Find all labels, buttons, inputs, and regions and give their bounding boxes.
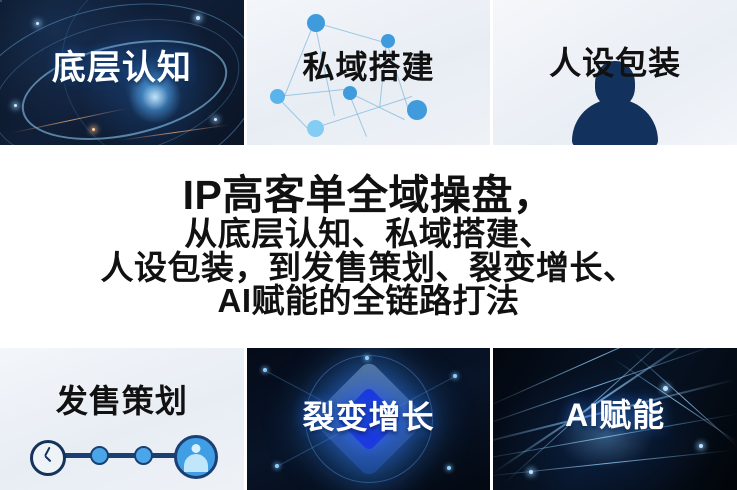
- headline-line-3: 人设包装，到发售策划、裂变增长、: [101, 251, 637, 285]
- panel-foundation-cognition[interactable]: 底层认知: [0, 0, 244, 145]
- silhouette-body: [572, 99, 658, 145]
- poster-canvas: 底层认知 私域搭建 人设: [0, 0, 737, 490]
- light-dot: [699, 444, 703, 448]
- panel-label-persona-packaging: 人设包装: [493, 38, 737, 84]
- network-dot: [365, 356, 369, 360]
- timeline-milestone-dot: [90, 446, 109, 465]
- light-dot: [529, 470, 533, 474]
- network-dot: [447, 466, 451, 470]
- avatar-body: [184, 454, 208, 472]
- panel-launch-planning[interactable]: 发售策划: [0, 348, 244, 490]
- timeline-end-avatar-icon: [174, 435, 218, 479]
- graph-edge: [314, 22, 383, 43]
- orbit-ring-icon: [0, 0, 2, 2]
- bottom-panel-row: 发售策划: [0, 348, 737, 490]
- panel-label-launch-planning: 发售策划: [0, 376, 244, 422]
- timeline-milestone-dot: [134, 446, 153, 465]
- headline-line-4: AI赋能的全链路打法: [218, 284, 520, 318]
- graph-node: [407, 100, 427, 120]
- spark-icon: [36, 22, 39, 25]
- spark-icon: [14, 104, 17, 107]
- timeline-graphic: [24, 436, 214, 474]
- panel-label-private-domain-build: 私域搭建: [247, 42, 491, 88]
- panel-label-foundation-cognition: 底层认知: [0, 40, 244, 89]
- avatar-head: [192, 444, 201, 453]
- clock-hand-hour: [44, 455, 51, 462]
- panel-private-domain-build[interactable]: 私域搭建: [247, 0, 491, 145]
- graph-node: [307, 120, 324, 137]
- panel-label-fission-growth: 裂变增长: [247, 392, 491, 438]
- graph-node: [307, 14, 325, 32]
- panel-persona-packaging[interactable]: 人设包装: [493, 0, 737, 145]
- spark-icon: [92, 128, 95, 131]
- headline-line-2: 从底层认知、私域搭建、: [184, 217, 553, 251]
- spark-icon: [196, 16, 200, 20]
- headline-block: IP高客单全域操盘， 从底层认知、私域搭建、 人设包装，到发售策划、裂变增长、 …: [0, 145, 737, 348]
- headline-line-1: IP高客单全域操盘，: [183, 175, 555, 217]
- panel-fission-growth[interactable]: 裂变增长: [247, 348, 491, 490]
- top-panel-row: 底层认知 私域搭建 人设: [0, 0, 737, 145]
- clock-icon: [30, 440, 66, 476]
- spark-icon: [214, 118, 217, 121]
- panel-label-ai-empowerment: AI赋能: [493, 390, 737, 436]
- panel-ai-empowerment[interactable]: AI赋能: [493, 348, 737, 490]
- graph-node: [343, 86, 357, 100]
- graph-node: [270, 89, 285, 104]
